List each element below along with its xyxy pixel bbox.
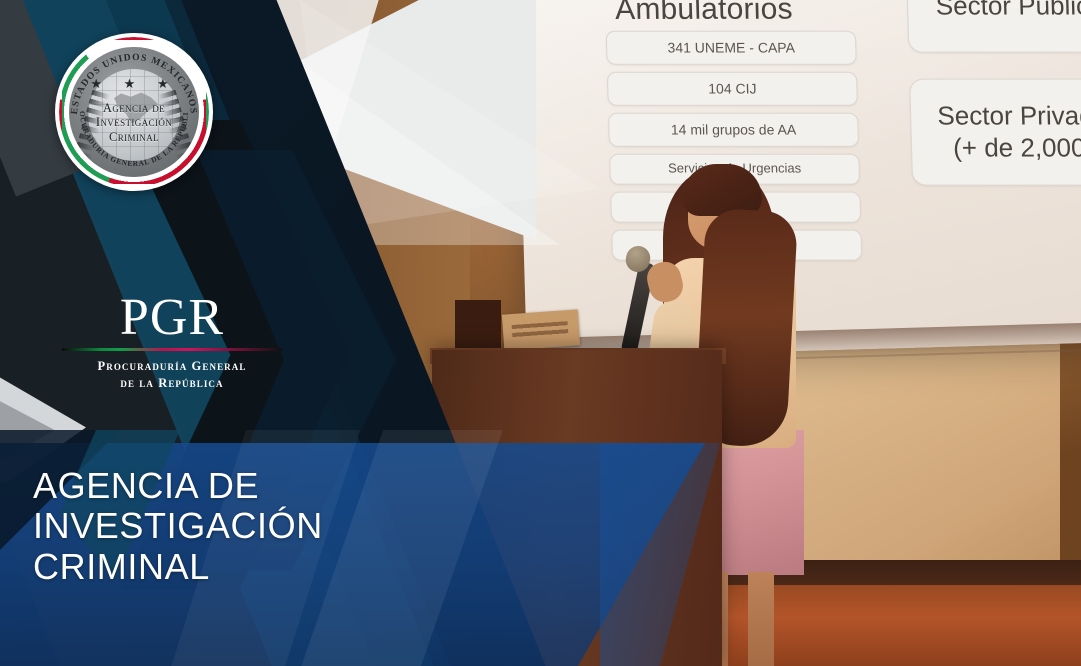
seal-center-text: Agencia de Investigación Criminal: [69, 101, 199, 144]
banner-title-line-2: INVESTIGACIÓN: [33, 506, 323, 546]
pgr-subtitle-line-2: de la República: [62, 375, 282, 392]
pgr-logo: PGR Procuraduría General de la República: [62, 293, 282, 392]
pgr-subtitle: Procuraduría General de la República: [62, 358, 282, 392]
pgr-tricolor-rule: [62, 348, 282, 351]
seal-disc: ★ ★ ★ Agencia de Investigación Criminal: [69, 47, 199, 177]
seal-line-2: Investigación: [69, 115, 199, 129]
seal-line-1: Agencia de: [69, 101, 199, 115]
pgr-subtitle-line-1: Procuraduría General: [62, 358, 282, 375]
pgr-wordmark: PGR: [62, 293, 282, 342]
banner-title: AGENCIA DE INVESTIGACIÓN CRIMINAL: [33, 466, 323, 587]
seal-line-3: Criminal: [69, 130, 199, 144]
image-canvas: Ambulatorios 341 UNEME - CAPA 104 CIJ 14…: [0, 0, 1081, 666]
seal-stars: ★ ★ ★: [69, 77, 199, 90]
aic-seal-emblem: ★ ★ ★ Agencia de Investigación Criminal …: [55, 33, 213, 191]
banner-title-line-1: AGENCIA DE: [33, 466, 323, 506]
banner-title-line-3: CRIMINAL: [33, 547, 323, 587]
bottom-band-fade: [600, 443, 800, 666]
